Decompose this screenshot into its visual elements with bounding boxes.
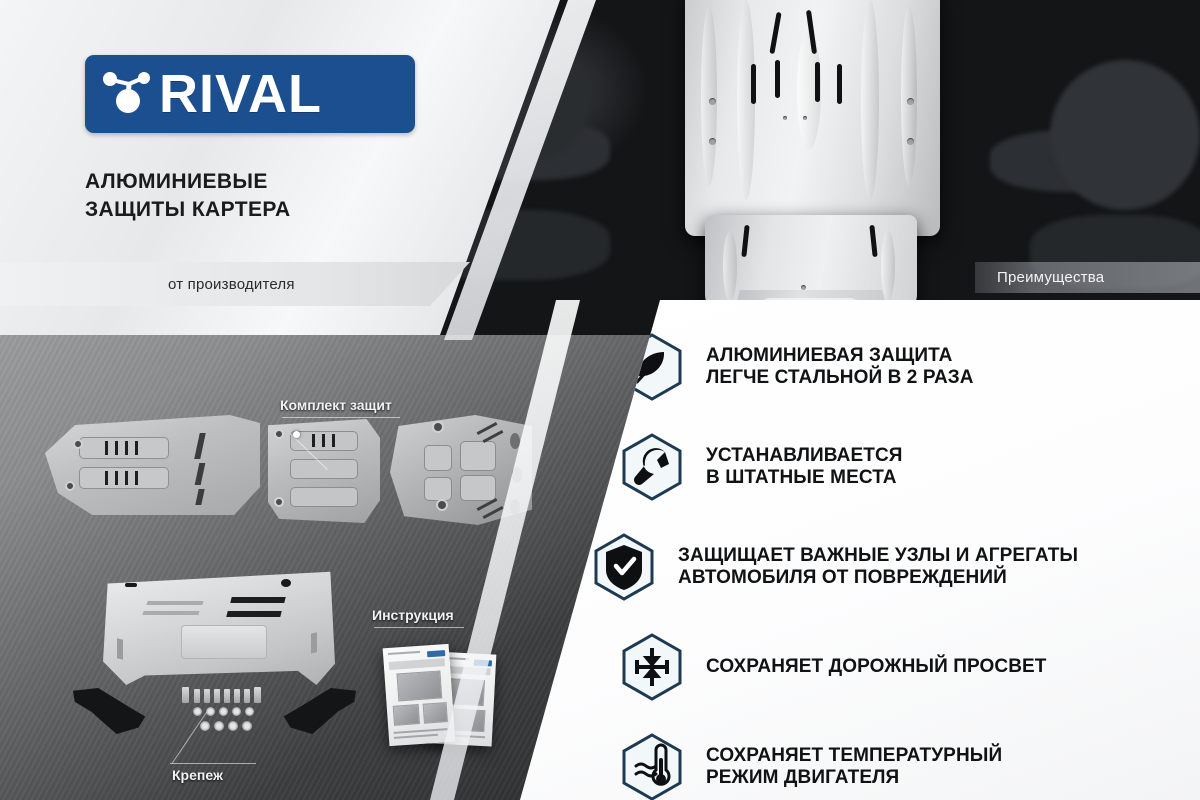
- page-title: АЛЮМИНИЕВЫЕ ЗАЩИТЫ КАРТЕРА: [85, 168, 445, 223]
- instruction-sheet-front: [383, 644, 456, 746]
- molecule-icon: [99, 67, 153, 122]
- advantages-tag: Преимущества: [975, 262, 1200, 293]
- feature-line-2: РЕЖИМ ДВИГАТЕЛЯ: [706, 767, 1002, 789]
- feature-line-2: АВТОМОБИЛЯ ОТ ПОВРЕЖДЕНИЙ: [678, 567, 1078, 589]
- promo-banner: RIVAL АЛЮМИНИЕВЫЕ ЗАЩИТЫ КАРТЕРА от прои…: [0, 0, 1200, 800]
- label-instruction: Инструкция: [372, 607, 454, 623]
- feature-item: АЛЮМИНИЕВАЯ ЗАЩИТА ЛЕГЧЕ СТАЛЬНОЙ В 2 РА…: [620, 332, 1190, 402]
- feature-line-1: СОХРАНЯЕТ ТЕМПЕРАТУРНЫЙ: [706, 745, 1002, 766]
- ground-clearance-icon: [620, 632, 684, 702]
- label-hardware: Крепеж: [172, 767, 223, 783]
- features-list: АЛЮМИНИЕВАЯ ЗАЩИТА ЛЕГЧЕ СТАЛЬНОЙ В 2 РА…: [620, 332, 1190, 800]
- label-kit: Комплект защит: [280, 397, 392, 413]
- leader-line-hardware: [170, 763, 256, 764]
- shield-check-icon: [592, 532, 656, 602]
- feature-item: СОХРАНЯЕТ ДОРОЖНЫЙ ПРОСВЕТ: [620, 632, 1190, 702]
- leader-line-kit: [282, 417, 400, 418]
- feature-line-2: ЛЕГЧЕ СТАЛЬНОЙ В 2 РАЗА: [706, 367, 974, 389]
- feature-item: УСТАНАВЛИВАЕТСЯ В ШТАТНЫЕ МЕСТА: [620, 432, 1190, 502]
- skid-plate-middle: [268, 419, 380, 523]
- feature-text: АЛЮМИНИЕВАЯ ЗАЩИТА ЛЕГЧЕ СТАЛЬНОЙ В 2 РА…: [706, 345, 974, 390]
- advantages-label: Преимущества: [997, 269, 1104, 286]
- feature-line-1: УСТАНАВЛИВАЕТСЯ: [706, 445, 903, 466]
- subtitle-strip: от производителя: [0, 262, 470, 306]
- headline-line-2: ЗАЩИТЫ КАРТЕРА: [85, 196, 445, 224]
- wrench-icon: [620, 432, 684, 502]
- feature-item: СОХРАНЯЕТ ТЕМПЕРАТУРНЫЙ РЕЖИМ ДВИГАТЕЛЯ: [620, 732, 1190, 800]
- feature-text: СОХРАНЯЕТ ДОРОЖНЫЙ ПРОСВЕТ: [706, 656, 1047, 678]
- feature-line-1: СОХРАНЯЕТ ДОРОЖНЫЙ ПРОСВЕТ: [706, 656, 1047, 677]
- skid-plate-left: [45, 415, 260, 515]
- thermometer-icon: [620, 732, 684, 800]
- feature-line-1: АЛЮМИНИЕВАЯ ЗАЩИТА: [706, 345, 952, 366]
- feature-text: УСТАНАВЛИВАЕТСЯ В ШТАТНЫЕ МЕСТА: [706, 445, 903, 490]
- skid-plate-main-large: [103, 567, 335, 685]
- feature-text: СОХРАНЯЕТ ТЕМПЕРАТУРНЫЙ РЕЖИМ ДВИГАТЕЛЯ: [706, 745, 1002, 790]
- headline-line-1: АЛЮМИНИЕВЫЕ: [85, 168, 445, 196]
- leader-dot-kit: [293, 431, 300, 438]
- feature-text: ЗАЩИЩАЕТ ВАЖНЫЕ УЗЛЫ И АГРЕГАТЫ АВТОМОБИ…: [678, 545, 1078, 590]
- feature-line-1: ЗАЩИЩАЕТ ВАЖНЫЕ УЗЛЫ И АГРЕГАТЫ: [678, 545, 1078, 566]
- feature-line-2: В ШТАТНЫЕ МЕСТА: [706, 467, 903, 489]
- rival-logo: RIVAL: [85, 55, 415, 133]
- feature-item: ЗАЩИЩАЕТ ВАЖНЫЕ УЗЛЫ И АГРЕГАТЫ АВТОМОБИ…: [592, 532, 1190, 602]
- leader-line-instruction: [374, 627, 464, 628]
- subtitle-text: от производителя: [168, 276, 295, 293]
- logo-wordmark: RIVAL: [159, 67, 322, 121]
- installed-skid-plate: [685, 0, 940, 236]
